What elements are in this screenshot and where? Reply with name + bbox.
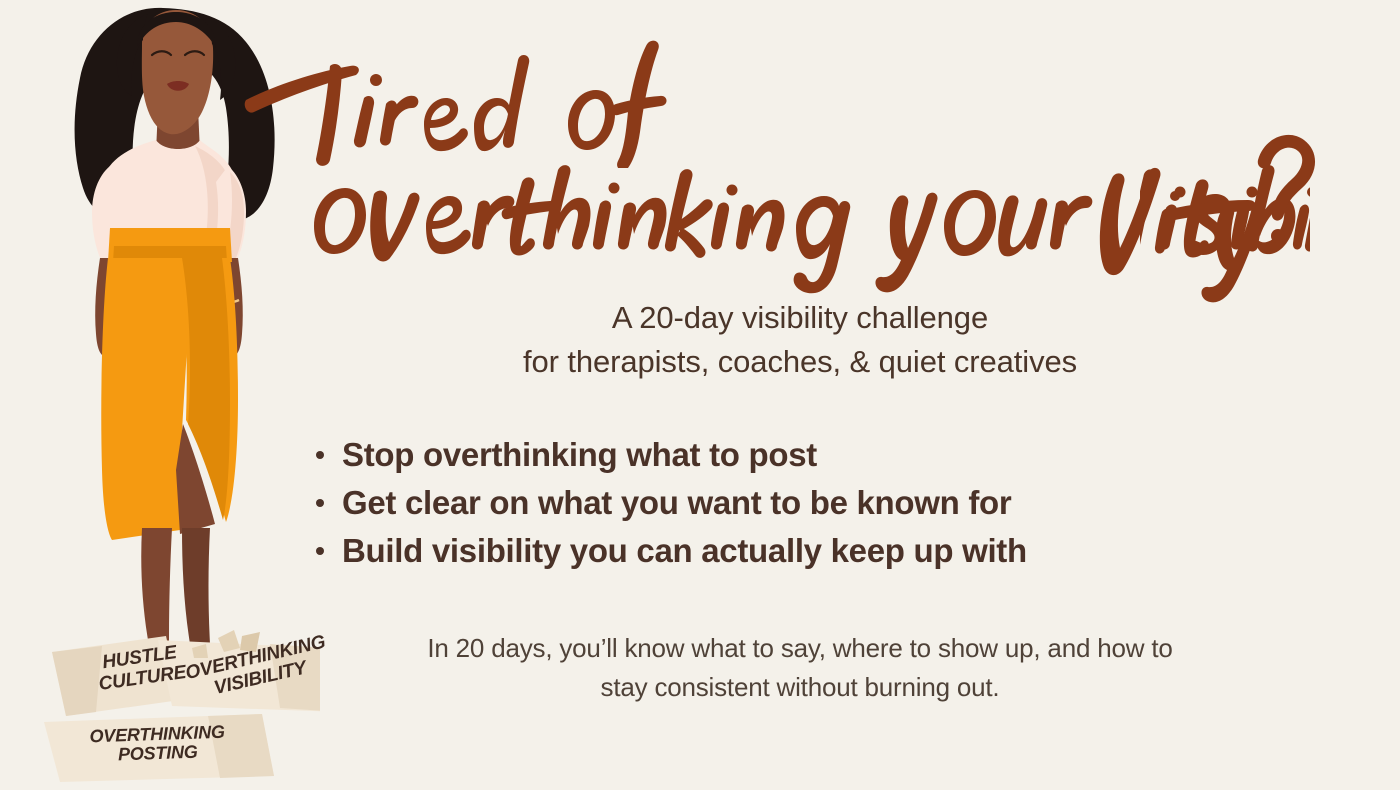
bullet-dot-icon	[316, 499, 324, 507]
subtitle: A 20-day visibility challenge for therap…	[300, 296, 1300, 384]
bullet-dot-icon	[316, 547, 324, 555]
content-block: A 20-day visibility challenge for therap…	[300, 296, 1300, 707]
list-item: Stop overthinking what to post	[316, 431, 1300, 479]
scrap-label-hustle-culture: HUSTLE CULTURE	[74, 639, 208, 698]
list-item-label: Get clear on what you want to be known f…	[342, 484, 1011, 521]
list-item-label: Build visibility you can actually keep u…	[342, 532, 1027, 569]
headline-line-2: overthinking your visibility?	[300, 130, 1310, 295]
headline-line-1: Tired of	[238, 28, 858, 168]
bullet-dot-icon	[316, 451, 324, 459]
closing-line-2: stay consistent without burning out.	[300, 668, 1300, 707]
list-item: Get clear on what you want to be known f…	[316, 479, 1300, 527]
skirt-body	[101, 258, 190, 540]
paper-scrap-labels: HUSTLE CULTURE OVERTHINKING VISIBILITY O…	[40, 600, 390, 790]
subtitle-line-2: for therapists, coaches, & quiet creativ…	[300, 340, 1300, 384]
list-item-label: Stop overthinking what to post	[342, 436, 817, 473]
promotional-graphic: Tired of overthinking your visibility?	[0, 0, 1400, 790]
list-item: Build visibility you can actually keep u…	[316, 527, 1300, 575]
subtitle-line-1: A 20-day visibility challenge	[300, 296, 1300, 340]
scrap-label-overthinking-visibility: OVERTHINKING VISIBILITY	[166, 628, 351, 708]
scrap-label-overthinking-posting: OVERTHINKING POSTING	[69, 722, 245, 767]
benefit-list: Stop overthinking what to post Get clear…	[300, 431, 1300, 575]
glyph-l1	[1305, 167, 1310, 251]
closing-paragraph: In 20 days, you’ll know what to say, whe…	[300, 629, 1300, 707]
closing-line-1: In 20 days, you’ll know what to say, whe…	[300, 629, 1300, 668]
headline-tail-glyphs	[1140, 130, 1320, 305]
